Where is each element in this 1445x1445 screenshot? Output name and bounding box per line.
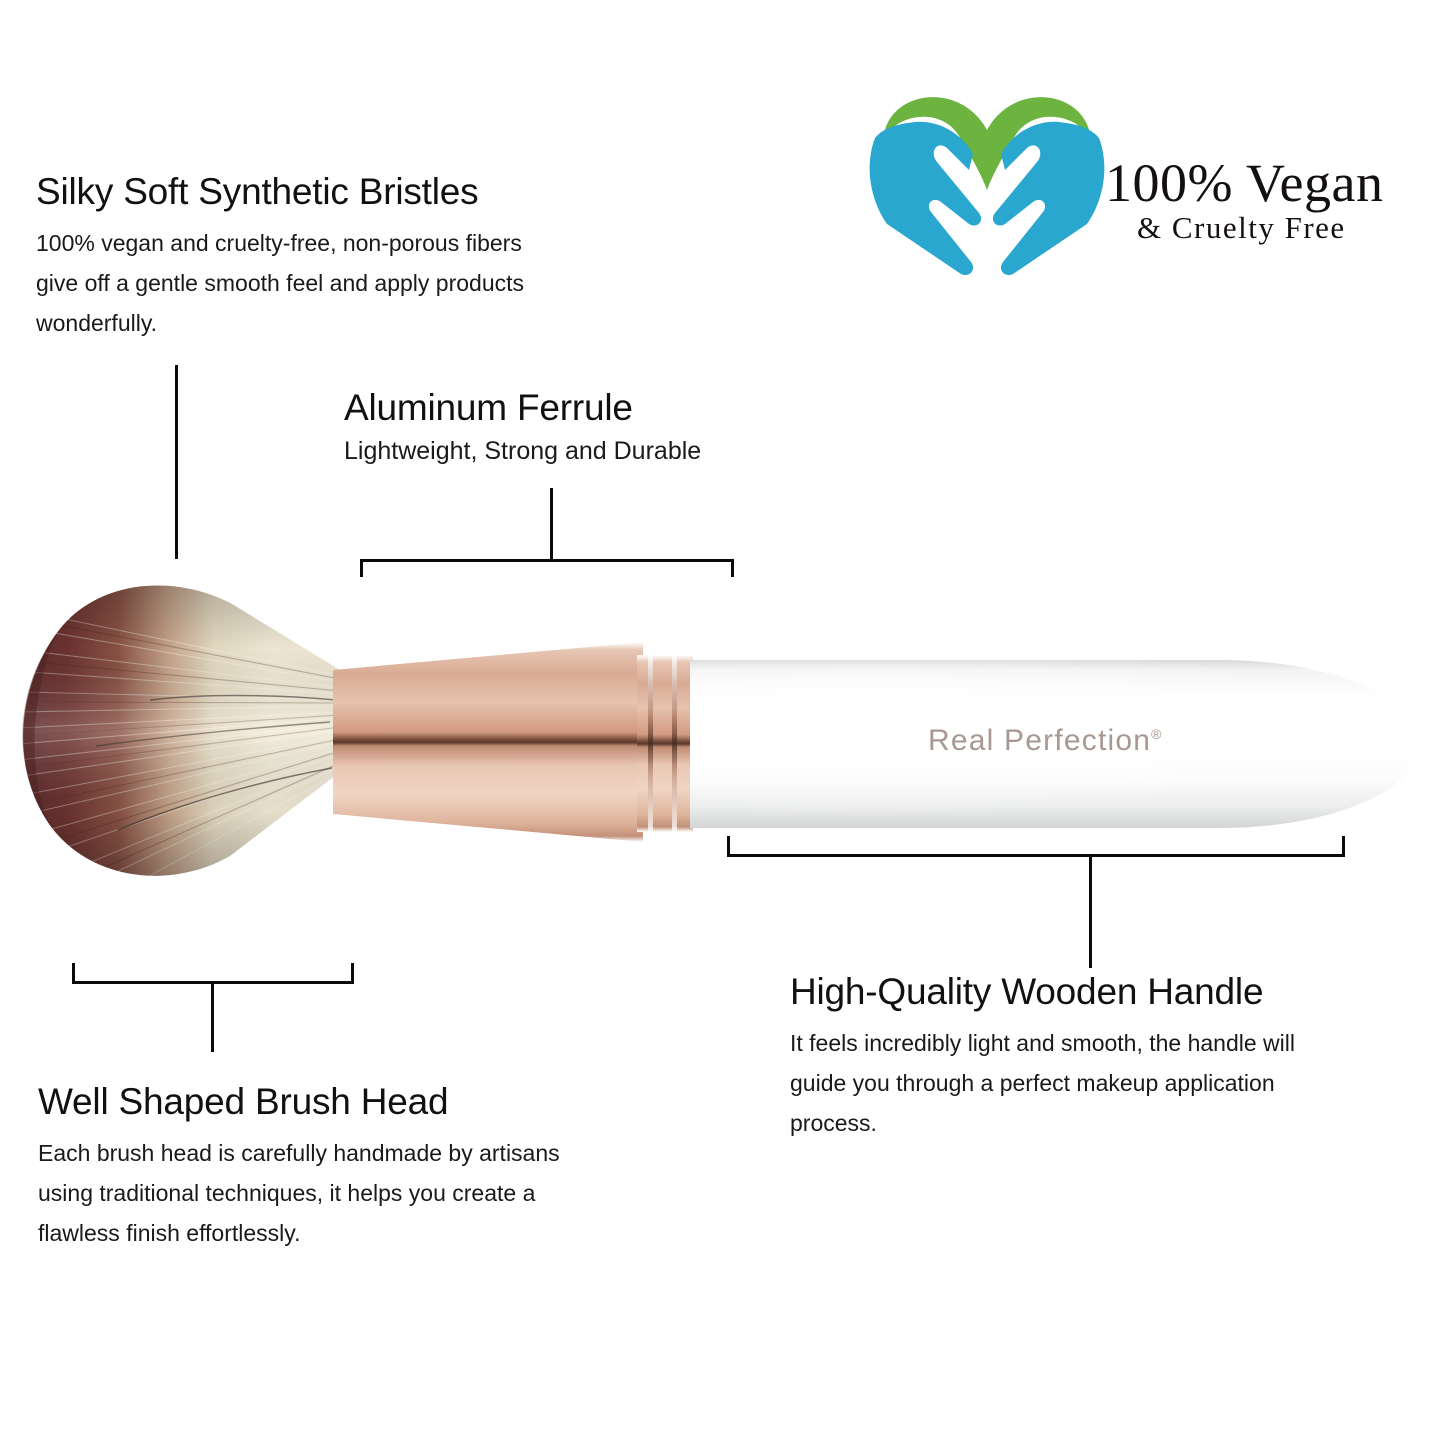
leader-tick-handle-right: [1342, 836, 1345, 854]
feature-ferrule-headline: Aluminum Ferrule: [344, 388, 784, 429]
leader-stem-handle: [1089, 854, 1092, 968]
feature-handle-body: It feels incredibly light and smooth, th…: [790, 1023, 1338, 1144]
badge-secondary-text: & Cruelty Free: [1137, 212, 1346, 243]
feature-ferrule: Aluminum Ferrule Lightweight, Strong and…: [344, 388, 784, 466]
trademark-symbol: ®: [1151, 726, 1163, 742]
feature-brush-head: Well Shaped Brush Head Each brush head i…: [38, 1082, 608, 1253]
feature-brush-head-body: Each brush head is carefully handmade by…: [38, 1133, 583, 1254]
heart-hands-leaf-icon: [865, 78, 1115, 278]
brush-ferrule-neck: [637, 655, 693, 832]
leader-tick-brush-head-right: [351, 963, 354, 981]
makeup-brush-image: Real Perfection®: [0, 560, 1445, 920]
leader-stem-brush-head: [211, 981, 214, 1052]
leader-stem-ferrule: [550, 488, 553, 562]
leader-bracket-handle: [727, 854, 1345, 857]
leader-tick-handle-left: [727, 836, 730, 854]
feature-ferrule-subtext: Lightweight, Strong and Durable: [344, 437, 784, 466]
leader-tick-brush-head-left: [72, 963, 75, 981]
brand-mark: Real Perfection®: [928, 724, 1163, 758]
ferrule-groove-2: [672, 655, 677, 832]
product-infographic: 100% Vegan & Cruelty Free Silky Soft Syn…: [0, 0, 1445, 1445]
brand-mark-text: Real Perfection: [928, 724, 1151, 757]
brush-ferrule-body: [333, 642, 643, 842]
feature-bristles-body: 100% vegan and cruelty-free, non-porous …: [36, 223, 536, 344]
feature-handle-headline: High-Quality Wooden Handle: [790, 972, 1350, 1013]
leader-line-bristles: [175, 365, 178, 559]
feature-bristles-headline: Silky Soft Synthetic Bristles: [36, 172, 566, 213]
feature-handle: High-Quality Wooden Handle It feels incr…: [790, 972, 1350, 1143]
badge-primary-text: 100% Vegan: [1105, 156, 1383, 210]
feature-brush-head-headline: Well Shaped Brush Head: [38, 1082, 608, 1123]
vegan-cruelty-free-badge: 100% Vegan & Cruelty Free: [865, 78, 1385, 278]
ferrule-groove-1: [648, 655, 653, 832]
feature-bristles: Silky Soft Synthetic Bristles 100% vegan…: [36, 172, 566, 343]
